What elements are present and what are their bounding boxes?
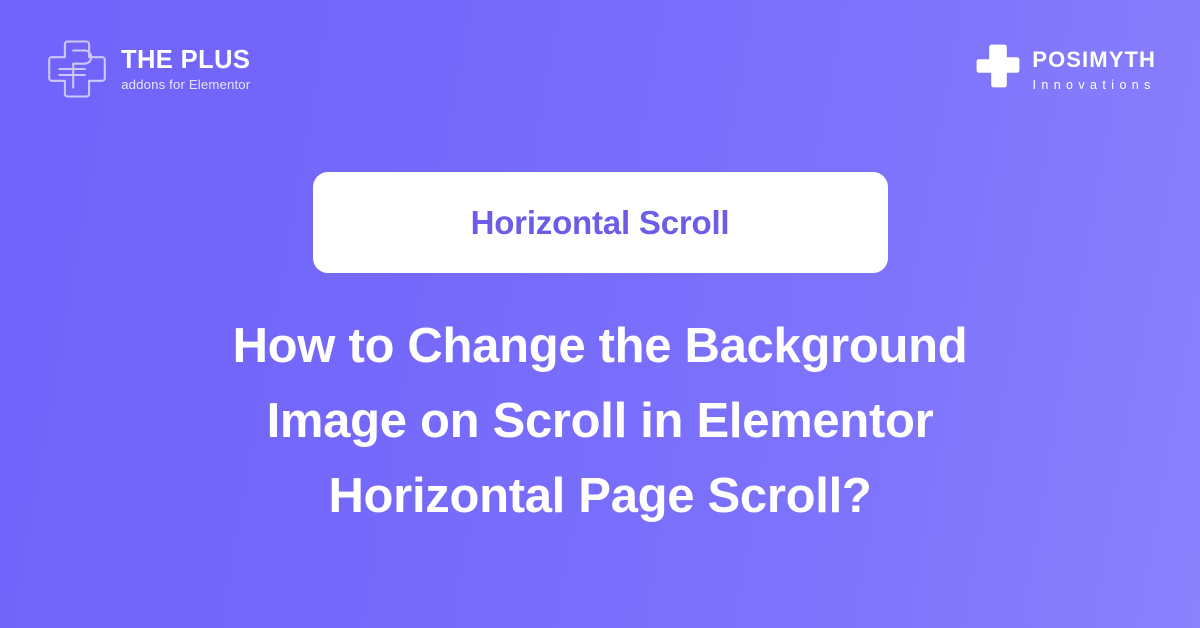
headline-line-3: Horizontal Page Scroll? [150,459,1050,534]
the-plus-wordmark: THE PLUS addons for Elementor [121,45,250,94]
posimyth-logo[interactable]: POSIMYTH Innovations [973,38,1156,92]
blog-cover-banner: THE PLUS addons for Elementor POSIMYTH I… [0,0,1200,628]
the-plus-tagline: addons for Elementor [121,77,250,93]
cover-content: Horizontal Scroll How to Change the Back… [0,150,1200,534]
posimyth-wordmark: POSIMYTH Innovations [1032,41,1156,92]
plus-outline-monogram-icon [46,38,108,100]
headline-line-1: How to Change the Background [150,309,1050,384]
the-plus-logo[interactable]: THE PLUS addons for Elementor [46,38,250,100]
page-title: How to Change the Background Image on Sc… [150,309,1050,534]
the-plus-name: THE PLUS [121,47,250,74]
headline-line-2: Image on Scroll in Elementor [150,384,1050,459]
posimyth-name: POSIMYTH [1032,41,1156,72]
category-badge[interactable]: Horizontal Scroll [313,172,888,273]
brand-bar: THE PLUS addons for Elementor POSIMYTH I… [0,0,1200,150]
category-label: Horizontal Scroll [471,206,730,239]
plus-solid-icon [973,42,1021,90]
posimyth-tagline: Innovations [1032,79,1156,92]
